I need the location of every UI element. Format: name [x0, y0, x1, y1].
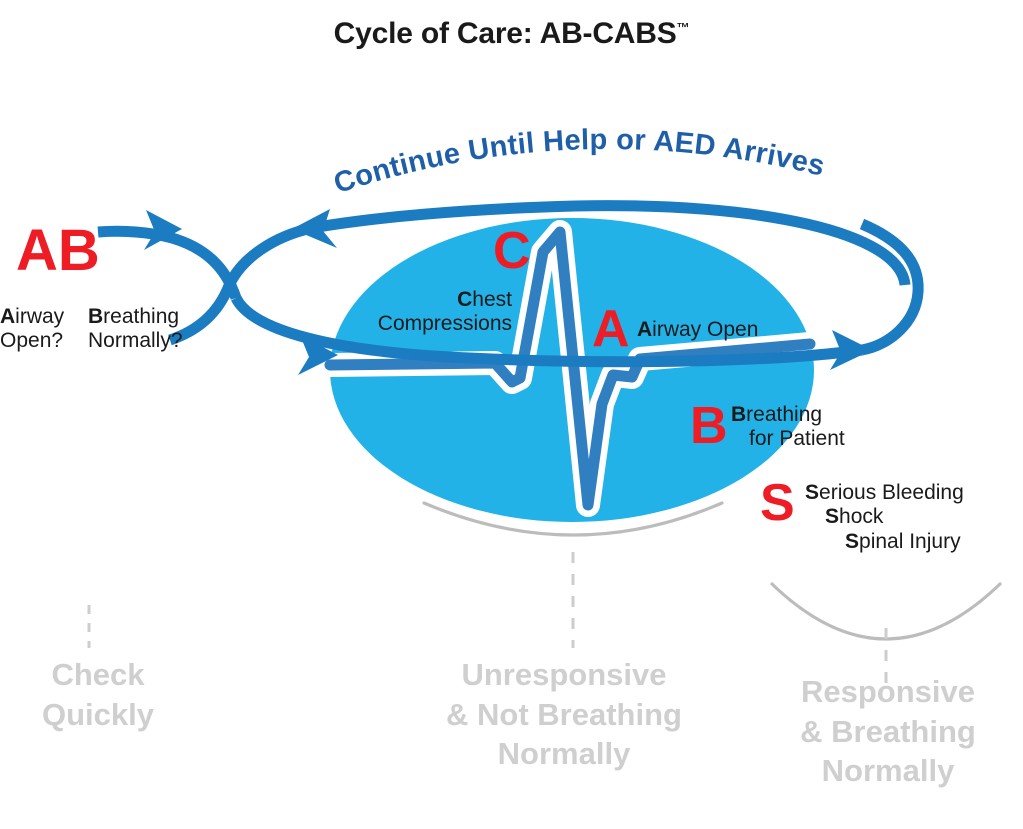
- caption-middle-line1: Unresponsive: [404, 655, 724, 695]
- caption-right-line2: & Breathing: [752, 712, 1023, 752]
- step-b-initial: B: [731, 403, 746, 426]
- loop-caption: Continue Until Help or AED Arrives: [330, 124, 828, 200]
- step-b-line2: for Patient: [731, 427, 845, 451]
- step-b-text: Breathing for Patient: [731, 403, 845, 452]
- step-s-line1: Serious Bleeding: [805, 481, 964, 504]
- step-s-letter: S: [760, 477, 795, 529]
- step-a-initial: A: [637, 318, 652, 341]
- step-ab-breathing-rest: reathing: [103, 305, 179, 328]
- step-s-line3-rest: pinal Injury: [859, 530, 961, 553]
- caption-middle-line3: Normally: [404, 734, 724, 774]
- caption-right-line3: Normally: [752, 751, 1023, 791]
- step-s-text: Serious Bleeding Shock Spinal Injury: [805, 481, 964, 554]
- caption-left-line2: Quickly: [8, 695, 188, 735]
- step-b-rest: reathing: [746, 403, 822, 426]
- page-title: Cycle of Care: AB-CABS™: [0, 17, 1023, 51]
- step-ab-breathing: Breathing Normally?: [88, 305, 183, 354]
- cycle-of-care-diagram: Continue Until Help or AED Arrives Cycle…: [0, 0, 1023, 829]
- caption-right-line1: Responsive: [752, 672, 1023, 712]
- step-ab-airway-initial: A: [0, 305, 15, 328]
- step-c-text: Chest Compressions: [330, 288, 512, 337]
- step-s-line2-rest: hock: [839, 505, 883, 528]
- step-b-letter: B: [690, 400, 728, 452]
- step-a-rest: irway Open: [652, 318, 758, 341]
- caption-responsive: Responsive & Breathing Normally: [752, 672, 1023, 791]
- step-ab-breathing-initial: B: [88, 305, 103, 328]
- step-ab-text: Airway Open? Breathing Normally?: [0, 305, 183, 354]
- step-a-letter: A: [592, 303, 630, 355]
- caption-left-line1: Check: [8, 655, 188, 695]
- step-ab-breathing-line2: Normally?: [88, 329, 183, 352]
- step-c-rest: hest: [472, 288, 512, 311]
- step-s-line2-initial: S: [825, 505, 839, 528]
- caption-unresponsive: Unresponsive & Not Breathing Normally: [404, 655, 724, 774]
- step-c-letter: C: [493, 225, 531, 277]
- step-a-text: Airway Open: [637, 318, 758, 342]
- trademark-mark: ™: [677, 20, 690, 35]
- step-s-line3-initial: S: [845, 530, 859, 553]
- page-title-text: Cycle of Care: AB-CABS: [334, 17, 677, 50]
- caption-middle-line2: & Not Breathing: [404, 695, 724, 735]
- loop-arrow-crossover2-path: [98, 231, 236, 298]
- step-s-line1-initial: S: [805, 481, 819, 504]
- step-c-line2: Compressions: [378, 312, 512, 335]
- step-ab-airway: Airway Open?: [0, 305, 88, 354]
- step-ab-letters: AB: [16, 222, 100, 280]
- step-ab-airway-line2: Open?: [0, 329, 63, 352]
- step-s-line3: Spinal Injury: [805, 530, 964, 554]
- caption-check-quickly: Check Quickly: [8, 655, 188, 734]
- loop-caption-text: Continue Until Help or AED Arrives: [330, 124, 828, 200]
- step-s-line1-rest: erious Bleeding: [819, 481, 964, 504]
- step-c-initial: C: [457, 288, 472, 311]
- step-ab-airway-rest: irway: [15, 305, 64, 328]
- step-s-line2: Shock: [805, 505, 964, 529]
